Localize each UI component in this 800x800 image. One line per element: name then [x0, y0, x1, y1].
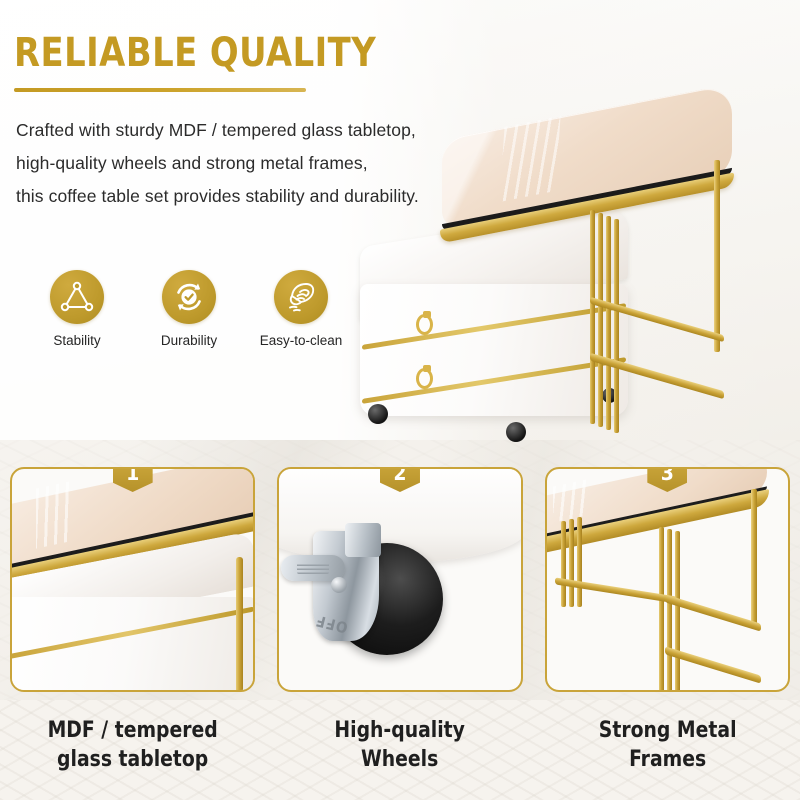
feature-panel-1: 1: [10, 467, 255, 692]
panel-2-caption: High-quality Wheels: [283, 716, 516, 792]
panel-1-caption: MDF / tempered glass tabletop: [16, 716, 249, 792]
page-title: RELIABLE QUALITY: [14, 30, 376, 76]
caption-line: Wheels: [283, 745, 516, 774]
caption-line: MDF / tempered: [16, 716, 249, 745]
feature-label: Easy-to-clean: [260, 333, 343, 348]
caption-line: glass tabletop: [16, 745, 249, 774]
feature-label: Durability: [161, 333, 217, 348]
glass-reflection: [499, 116, 560, 202]
hand-wiping-cloth-icon: [274, 270, 328, 324]
panel-2-artwork: OFF: [279, 469, 520, 690]
hero-product-image: [352, 104, 800, 449]
frame-leg-flute: [659, 527, 664, 692]
triangle-nodes-icon: [50, 270, 104, 324]
panel-3-artwork: [547, 469, 788, 690]
feature-panel-2: OFF 2: [277, 467, 522, 692]
frame-leg-flute: [667, 529, 672, 692]
caption-line: High-quality: [283, 716, 516, 745]
table-leg-right: [714, 160, 720, 352]
table-leg-flute: [590, 210, 595, 424]
feature-easy-to-clean: Easy-to-clean: [266, 270, 336, 348]
frame-leg-flute: [561, 521, 566, 607]
drawer-ring-pull-icon: [416, 368, 433, 389]
feature-stability: Stability: [42, 270, 112, 348]
glass-reflection: [36, 481, 70, 548]
caster-stem: [345, 523, 381, 557]
table-leg-flute: [598, 213, 603, 427]
marketing-banner: RELIABLE QUALITY Crafted with sturdy MDF…: [0, 0, 800, 800]
table-leg: [236, 557, 243, 692]
panel-caption-row: MDF / tempered glass tabletop High-quali…: [10, 716, 790, 792]
cabinet-body: [10, 597, 254, 692]
feature-durability: Durability: [154, 270, 224, 348]
drawer-ring-pull-icon: [416, 314, 433, 335]
panel-number: 1: [126, 467, 139, 486]
panel-3-caption: Strong Metal Frames: [551, 716, 784, 792]
frame-leg-right: [751, 489, 757, 629]
feature-panel-3: 3: [545, 467, 790, 692]
circular-arrows-check-icon: [162, 270, 216, 324]
side-table: [432, 104, 800, 404]
caption-line: Strong Metal: [551, 716, 784, 745]
glass-reflection: [553, 479, 587, 522]
feature-panel-row: 1 OFF 2: [10, 467, 790, 692]
title-underline: [14, 88, 306, 92]
frame-leg-flute: [577, 517, 582, 607]
frame-leg-flute: [675, 531, 680, 692]
feature-label: Stability: [53, 333, 100, 348]
feature-icon-row: Stability Durability: [42, 270, 336, 348]
caption-line: Frames: [551, 745, 784, 774]
table-leg-flute: [606, 216, 611, 430]
table-leg-flute: [614, 219, 619, 433]
panel-1-artwork: [12, 469, 253, 690]
panel-number: 2: [393, 467, 406, 486]
frame-leg-flute: [569, 519, 574, 607]
panel-number: 3: [661, 467, 674, 486]
caster-wheel: [506, 422, 526, 442]
caster-wheel: [368, 404, 388, 424]
